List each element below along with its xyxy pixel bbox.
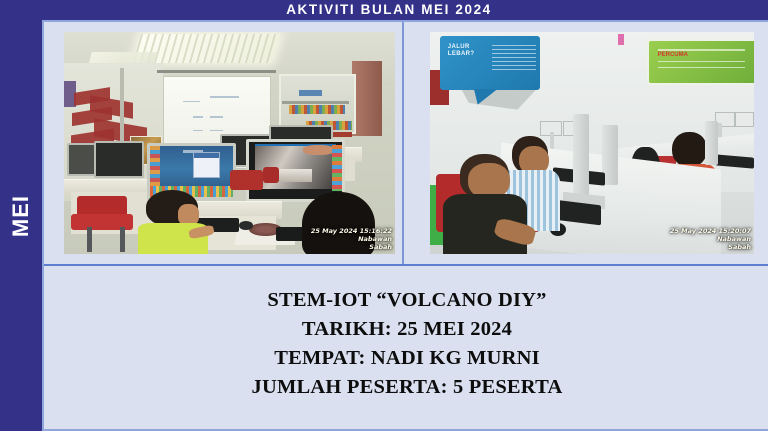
caption-block: STEM-IOT “VOLCANO DIY” TARIKH: 25 MEI 20… [44,266,768,431]
monitor [94,141,144,178]
chair-leg [87,227,92,251]
whiteboard-writing [210,130,223,131]
whiteboard-writing [193,130,203,131]
monitor-main [573,114,589,203]
child-foreground [443,154,527,254]
month-label: MEI [8,194,34,236]
dialog-titlebar [194,153,219,158]
month-label-wrapper: MEI [0,0,42,431]
photo-right: JALUR LEBAR? PERCUMA [430,32,754,254]
poster-green-rule [658,49,746,51]
whiteboard-writing [183,101,200,102]
poster-green-rule [658,61,746,63]
timestamp-datetime: 25 May 2024 15:16:22 [311,227,392,235]
poster-blue-line1: JALUR [448,44,475,52]
caption-line-title: STEM-IOT “VOLCANO DIY” [267,286,546,315]
chair [263,167,280,183]
wall-socket [735,112,754,127]
cabinet-shelf [282,101,348,104]
door [352,61,382,136]
video-hand [303,145,335,155]
child-head [672,132,707,168]
wall-pink-marker [618,34,624,45]
whiteboard-writing [193,116,203,117]
desktop-dialog-window [193,152,220,177]
caption-line-participants: JUMLAH PESERTA: 5 PESERTA [252,373,563,402]
caption-line-venue: TEMPAT: NADI KG MURNI [274,344,540,373]
timestamp-state: Sabah [311,243,392,251]
child-in-yellow-shirt [137,190,210,254]
header-bar: AKTIVITI BULAN MEI 2024 [0,0,768,20]
whiteboard-writing [210,96,240,97]
photo-row: 25 May 2024 15:16:22 Nabawan Sabah JALUR [44,22,768,264]
poster-green-text: PERCUMA [658,52,688,58]
mouse [239,221,252,230]
whiteboard-writing [210,116,223,117]
video-sidebar-icons [332,145,341,191]
content-panel: 25 May 2024 15:16:22 Nabawan Sabah JALUR [42,20,768,431]
caption-line-date: TARIKH: 25 MEI 2024 [302,315,512,344]
monitor [705,121,718,165]
poster-percuma: PERCUMA [647,39,754,85]
photo-cell-left: 25 May 2024 15:16:22 Nabawan Sabah [44,22,402,264]
shelf-books [289,105,345,114]
poster-blue-line2: LEBAR? [448,51,475,59]
poster-blue-body-text [492,45,536,73]
poster-green-rule [658,67,746,69]
timestamp-datetime: 25 May 2024 15:20:07 [670,227,751,235]
slide-aktiviti-mei-2024: AKTIVITI BULAN MEI 2024 MEI [0,0,768,431]
photo-left: 25 May 2024 15:16:22 Nabawan Sabah [64,32,395,254]
month-sidebar: MEI [0,0,42,431]
timestamp-place: Nabawan [311,235,392,243]
timestamp-state: Sabah [670,243,751,251]
cabinet-label [299,90,322,97]
chair-leg [120,227,125,251]
photo-cell-right: JALUR LEBAR? PERCUMA [404,22,768,264]
chair [230,170,263,190]
whiteboard-rail [157,70,276,74]
photo-timestamp-overlay: 25 May 2024 15:20:07 Nabawan Sabah [670,227,751,251]
page-title: AKTIVITI BULAN MEI 2024 [286,3,492,17]
poster-blue-text: JALUR LEBAR? [448,44,475,59]
poster-jalur-lebar: JALUR LEBAR? [440,36,540,89]
photo-timestamp-overlay: 25 May 2024 15:16:22 Nabawan Sabah [311,227,392,251]
timestamp-place: Nabawan [670,235,751,243]
